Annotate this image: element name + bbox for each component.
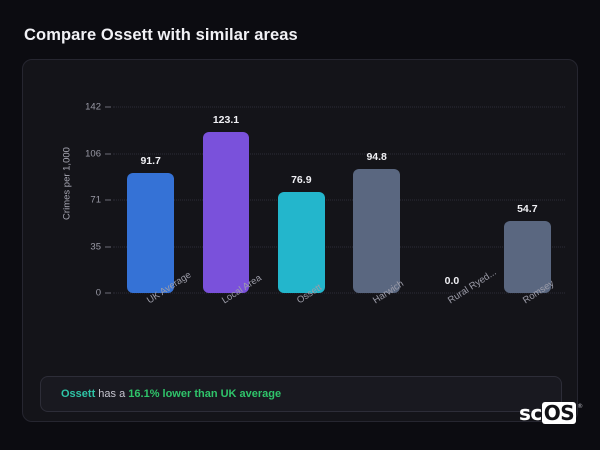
comparison-summary-text: Ossett has a 16.1% lower than UK average xyxy=(61,388,281,400)
bar-group[interactable]: 54.7Romsey xyxy=(504,60,551,293)
summary-delta: 16.1% lower than UK average xyxy=(128,388,281,400)
bars-layer: 91.7UK Average123.1Local Area76.9Ossett9… xyxy=(113,60,565,360)
bar-group[interactable]: 76.9Ossett xyxy=(278,60,325,293)
bar-group[interactable]: 0.0Rural Ryed... xyxy=(429,60,476,293)
bar-group[interactable]: 91.7UK Average xyxy=(127,60,174,293)
y-tick-label: 106 xyxy=(57,149,101,160)
chart-card: Crimes per 1,000 03571106142 91.7UK Aver… xyxy=(22,59,578,422)
y-tick-mark xyxy=(105,293,111,294)
bar-group[interactable]: 94.8Harwich xyxy=(353,60,400,293)
y-tick-label: 71 xyxy=(57,195,101,206)
bar-value-label: 0.0 xyxy=(445,275,460,287)
bar-chart-plot: Crimes per 1,000 03571106142 91.7UK Aver… xyxy=(23,60,579,360)
bar-value-label: 76.9 xyxy=(291,174,311,186)
y-tick-label: 142 xyxy=(57,102,101,113)
bar[interactable] xyxy=(203,132,250,293)
y-tick-mark xyxy=(105,107,111,108)
registered-mark-icon: ® xyxy=(577,403,583,410)
bar-value-label: 123.1 xyxy=(213,114,239,126)
y-tick-mark xyxy=(105,200,111,201)
summary-area-name: Ossett xyxy=(61,388,95,400)
y-tick-label: 0 xyxy=(57,288,101,299)
comparison-summary-box: Ossett has a 16.1% lower than UK average xyxy=(40,376,562,412)
summary-connector: has a xyxy=(95,388,128,400)
logo-text-sc: sc xyxy=(519,402,542,424)
y-tick-mark xyxy=(105,154,111,155)
bar[interactable] xyxy=(278,192,325,293)
bar-value-label: 94.8 xyxy=(366,151,386,163)
y-tick-mark xyxy=(105,247,111,248)
y-tick-label: 35 xyxy=(57,242,101,253)
logo-text-os: OS xyxy=(542,402,576,424)
y-axis-title: Crimes per 1,000 xyxy=(62,129,73,239)
bar[interactable] xyxy=(353,169,400,293)
bar[interactable] xyxy=(127,173,174,293)
bar-value-label: 54.7 xyxy=(517,203,537,215)
scos-logo: scOS® xyxy=(519,402,583,424)
page-title: Compare Ossett with similar areas xyxy=(24,26,298,45)
bar-value-label: 91.7 xyxy=(140,155,160,167)
bar-group[interactable]: 123.1Local Area xyxy=(203,60,250,293)
